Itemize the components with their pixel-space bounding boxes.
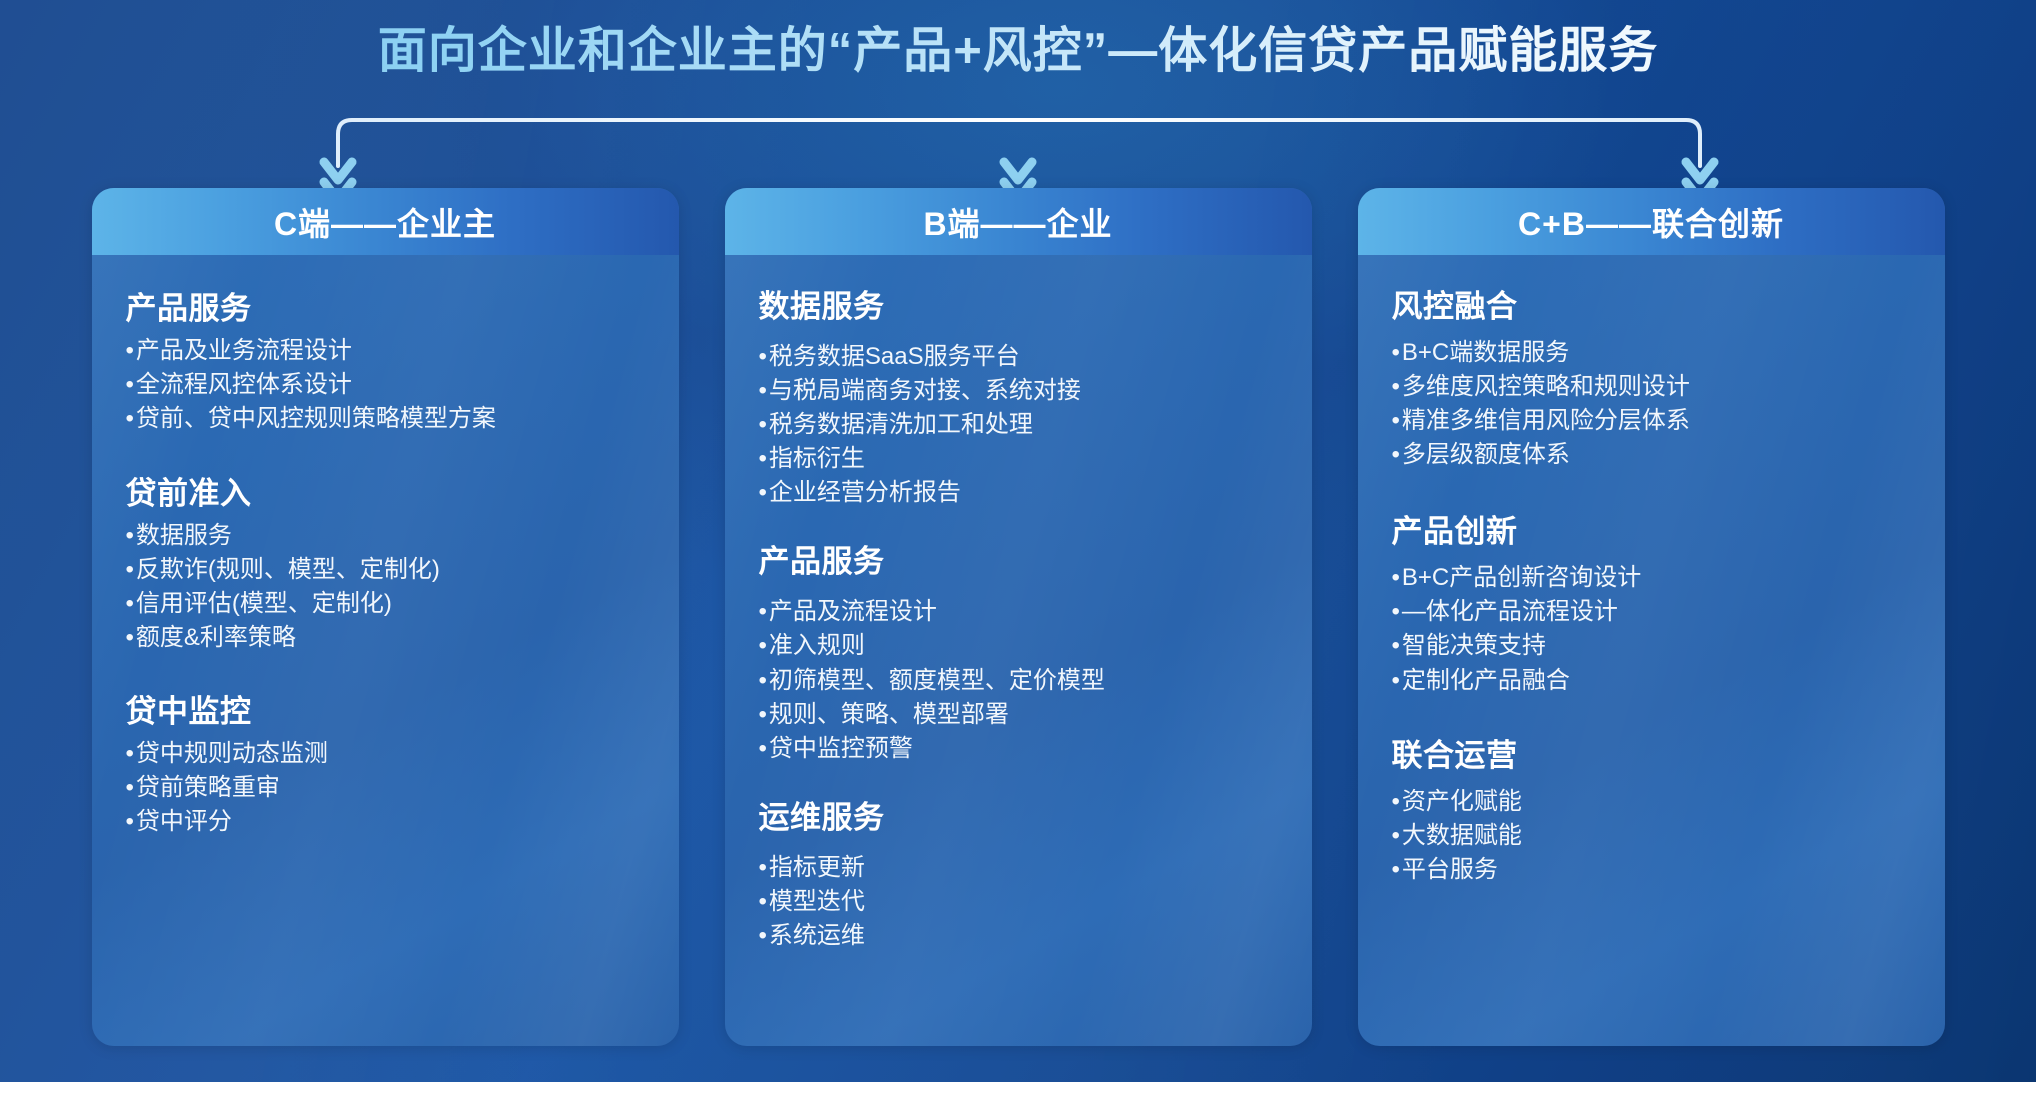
list-item-label: 多层级额度体系: [1402, 438, 1570, 472]
list-item: •初筛模型、额度模型、定价模型: [759, 664, 1278, 698]
list-item-label: 贷中监控预警: [769, 732, 913, 766]
list-item-label: 系统运维: [769, 919, 865, 953]
card-header-c-plus-b: C+B——联合创新: [1358, 188, 1945, 255]
list-item-label: 产品及业务流程设计: [136, 334, 352, 368]
list-item-label: —体化产品流程设计: [1402, 595, 1618, 629]
bullet-dot-icon: •: [759, 408, 767, 442]
list-item: •贷前、贷中风控规则策略模型方案: [126, 402, 645, 436]
list-item: •税务数据SaaS服务平台: [759, 340, 1278, 374]
card-content-b-end: 数据服务 •税务数据SaaS服务平台 •与税局端商务对接、系统对接 •税务数据清…: [725, 255, 1312, 1046]
bullet-list: •指标更新 •模型迭代 •系统运维: [759, 851, 1278, 953]
list-item: •智能决策支持: [1392, 629, 1911, 663]
list-item: •多层级额度体系: [1392, 438, 1911, 472]
list-item: •指标衍生: [759, 442, 1278, 476]
list-item-label: 贷前策略重审: [136, 771, 280, 805]
list-item: •规则、策略、模型部署: [759, 698, 1278, 732]
list-item-label: 反欺诈(规则、模型、定制化): [136, 553, 440, 587]
bullet-dot-icon: •: [759, 629, 767, 663]
list-item-label: 与税局端商务对接、系统对接: [769, 374, 1081, 408]
cards-row: C端——企业主 产品服务 •产品及业务流程设计 •全流程风控体系设计 •贷前、贷…: [0, 188, 2036, 1048]
list-item-label: 税务数据SaaS服务平台: [769, 340, 1020, 374]
bullet-dot-icon: •: [1392, 785, 1400, 819]
section-block: 产品服务 •产品及流程设计 •准入规则 •初筛模型、额度模型、定价模型 •规则、…: [759, 536, 1278, 765]
bullet-dot-icon: •: [759, 595, 767, 629]
list-item-label: 规则、策略、模型部署: [769, 698, 1009, 732]
card-header-c-end: C端——企业主: [92, 188, 679, 255]
bullet-dot-icon: •: [126, 519, 134, 553]
bullet-dot-icon: •: [126, 587, 134, 621]
card-b-end[interactable]: B端——企业 数据服务 •税务数据SaaS服务平台 •与税局端商务对接、系统对接…: [725, 188, 1312, 1046]
list-item-label: 准入规则: [769, 629, 865, 663]
bullet-dot-icon: •: [1392, 853, 1400, 887]
list-item: •准入规则: [759, 629, 1278, 663]
section-title: 数据服务: [759, 281, 1278, 326]
list-item: •贷中监控预警: [759, 732, 1278, 766]
slide-stage: 面向企业和企业主的“产品+风控”—体化信贷产品赋能服务: [0, 0, 2036, 1110]
list-item: •贷中规则动态监测: [126, 737, 645, 771]
section-block: 运维服务 •指标更新 •模型迭代 •系统运维: [759, 792, 1278, 953]
bullet-list: •产品及流程设计 •准入规则 •初筛模型、额度模型、定价模型 •规则、策略、模型…: [759, 595, 1278, 765]
bullet-dot-icon: •: [126, 771, 134, 805]
list-item-label: 资产化赋能: [1402, 785, 1522, 819]
list-item-label: 平台服务: [1402, 853, 1498, 887]
list-item: •贷中评分: [126, 805, 645, 839]
bullet-dot-icon: •: [1392, 664, 1400, 698]
section-title: 风控融合: [1392, 281, 1911, 326]
section-title: 运维服务: [759, 792, 1278, 837]
bullet-dot-icon: •: [759, 664, 767, 698]
list-item-label: 贷前、贷中风控规则策略模型方案: [136, 402, 496, 436]
section-block: 贷前准入 •数据服务 •反欺诈(规则、模型、定制化) •信用评估(模型、定制化)…: [126, 468, 645, 655]
list-item: •B+C端数据服务: [1392, 336, 1911, 370]
bullet-list: •税务数据SaaS服务平台 •与税局端商务对接、系统对接 •税务数据清洗加工和处…: [759, 340, 1278, 510]
list-item: •精准多维信用风险分层体系: [1392, 404, 1911, 438]
bullet-dot-icon: •: [759, 851, 767, 885]
list-item: •指标更新: [759, 851, 1278, 885]
section-block: 数据服务 •税务数据SaaS服务平台 •与税局端商务对接、系统对接 •税务数据清…: [759, 281, 1278, 510]
list-item: •定制化产品融合: [1392, 664, 1911, 698]
list-item: •大数据赋能: [1392, 819, 1911, 853]
list-item: •模型迭代: [759, 885, 1278, 919]
bullet-dot-icon: •: [1392, 561, 1400, 595]
bullet-list: •B+C端数据服务 •多维度风控策略和规则设计 •精准多维信用风险分层体系 •多…: [1392, 336, 1911, 472]
slide-background: 面向企业和企业主的“产品+风控”—体化信贷产品赋能服务: [0, 0, 2036, 1082]
list-item: •税务数据清洗加工和处理: [759, 408, 1278, 442]
section-title: 产品创新: [1392, 506, 1911, 551]
bullet-list: •B+C产品创新咨询设计 •—体化产品流程设计 •智能决策支持 •定制化产品融合: [1392, 561, 1911, 697]
list-item: •贷前策略重审: [126, 771, 645, 805]
list-item: •多维度风控策略和规则设计: [1392, 370, 1911, 404]
section-block: 联合运营 •资产化赋能 •大数据赋能 •平台服务: [1392, 730, 1911, 887]
bullet-dot-icon: •: [759, 885, 767, 919]
bullet-dot-icon: •: [1392, 370, 1400, 404]
section-title: 产品服务: [759, 536, 1278, 581]
bullet-dot-icon: •: [1392, 819, 1400, 853]
list-item-label: 定制化产品融合: [1402, 664, 1570, 698]
list-item-label: 数据服务: [136, 519, 232, 553]
list-item: •企业经营分析报告: [759, 476, 1278, 510]
bullet-dot-icon: •: [759, 698, 767, 732]
list-item-label: B+C端数据服务: [1402, 336, 1569, 370]
card-header-b-end: B端——企业: [725, 188, 1312, 255]
bullet-dot-icon: •: [1392, 404, 1400, 438]
bullet-dot-icon: •: [1392, 595, 1400, 629]
section-title: 贷前准入: [126, 468, 645, 513]
section-block: 产品服务 •产品及业务流程设计 •全流程风控体系设计 •贷前、贷中风控规则策略模…: [126, 283, 645, 436]
bullet-dot-icon: •: [1392, 438, 1400, 472]
list-item: •资产化赋能: [1392, 785, 1911, 819]
bullet-dot-icon: •: [126, 553, 134, 587]
list-item-label: 税务数据清洗加工和处理: [769, 408, 1033, 442]
bullet-list: •资产化赋能 •大数据赋能 •平台服务: [1392, 785, 1911, 887]
list-item: •额度&利率策略: [126, 621, 645, 655]
list-item: •与税局端商务对接、系统对接: [759, 374, 1278, 408]
bullet-dot-icon: •: [759, 732, 767, 766]
bullet-dot-icon: •: [1392, 629, 1400, 663]
section-title: 联合运营: [1392, 730, 1911, 775]
list-item-label: 模型迭代: [769, 885, 865, 919]
page-title: 面向企业和企业主的“产品+风控”—体化信贷产品赋能服务: [0, 22, 2036, 81]
card-c-plus-b[interactable]: C+B——联合创新 风控融合 •B+C端数据服务 •多维度风控策略和规则设计 •…: [1358, 188, 1945, 1046]
bullet-list: •数据服务 •反欺诈(规则、模型、定制化) •信用评估(模型、定制化) •额度&…: [126, 519, 645, 655]
list-item-label: 全流程风控体系设计: [136, 368, 352, 402]
list-item-label: 产品及流程设计: [769, 595, 937, 629]
list-item-label: 贷中规则动态监测: [136, 737, 328, 771]
list-item-label: 智能决策支持: [1402, 629, 1546, 663]
list-item-label: 初筛模型、额度模型、定价模型: [769, 664, 1105, 698]
bullet-dot-icon: •: [126, 368, 134, 402]
card-content-c-plus-b: 风控融合 •B+C端数据服务 •多维度风控策略和规则设计 •精准多维信用风险分层…: [1358, 255, 1945, 1046]
list-item-label: 精准多维信用风险分层体系: [1402, 404, 1690, 438]
card-content-c-end: 产品服务 •产品及业务流程设计 •全流程风控体系设计 •贷前、贷中风控规则策略模…: [92, 255, 679, 1046]
section-block: 风控融合 •B+C端数据服务 •多维度风控策略和规则设计 •精准多维信用风险分层…: [1392, 281, 1911, 472]
list-item-label: 信用评估(模型、定制化): [136, 587, 392, 621]
list-item: •反欺诈(规则、模型、定制化): [126, 553, 645, 587]
card-c-end[interactable]: C端——企业主 产品服务 •产品及业务流程设计 •全流程风控体系设计 •贷前、贷…: [92, 188, 679, 1046]
section-block: 产品创新 •B+C产品创新咨询设计 •—体化产品流程设计 •智能决策支持 •定制…: [1392, 506, 1911, 697]
bullet-dot-icon: •: [759, 442, 767, 476]
list-item-label: B+C产品创新咨询设计: [1402, 561, 1641, 595]
bullet-dot-icon: •: [759, 919, 767, 953]
list-item-label: 多维度风控策略和规则设计: [1402, 370, 1690, 404]
bullet-list: •产品及业务流程设计 •全流程风控体系设计 •贷前、贷中风控规则策略模型方案: [126, 334, 645, 436]
list-item: •系统运维: [759, 919, 1278, 953]
bullet-dot-icon: •: [759, 374, 767, 408]
bullet-dot-icon: •: [126, 805, 134, 839]
bullet-dot-icon: •: [1392, 336, 1400, 370]
list-item-label: 指标衍生: [769, 442, 865, 476]
bullet-dot-icon: •: [126, 621, 134, 655]
list-item: •平台服务: [1392, 853, 1911, 887]
section-title: 贷中监控: [126, 686, 645, 731]
list-item-label: 贷中评分: [136, 805, 232, 839]
list-item: •产品及流程设计: [759, 595, 1278, 629]
bullet-dot-icon: •: [126, 737, 134, 771]
list-item: •信用评估(模型、定制化): [126, 587, 645, 621]
list-item-label: 大数据赋能: [1402, 819, 1522, 853]
list-item: •产品及业务流程设计: [126, 334, 645, 368]
list-item-label: 指标更新: [769, 851, 865, 885]
bullet-dot-icon: •: [126, 402, 134, 436]
list-item: •—体化产品流程设计: [1392, 595, 1911, 629]
bullet-dot-icon: •: [126, 334, 134, 368]
bullet-list: •贷中规则动态监测 •贷前策略重审 •贷中评分: [126, 737, 645, 839]
bullet-dot-icon: •: [759, 476, 767, 510]
list-item-label: 额度&利率策略: [136, 621, 296, 655]
list-item: •全流程风控体系设计: [126, 368, 645, 402]
section-title: 产品服务: [126, 283, 645, 328]
list-item-label: 企业经营分析报告: [769, 476, 961, 510]
list-item: •B+C产品创新咨询设计: [1392, 561, 1911, 595]
bullet-dot-icon: •: [759, 340, 767, 374]
list-item: •数据服务: [126, 519, 645, 553]
section-block: 贷中监控 •贷中规则动态监测 •贷前策略重审 •贷中评分: [126, 686, 645, 839]
